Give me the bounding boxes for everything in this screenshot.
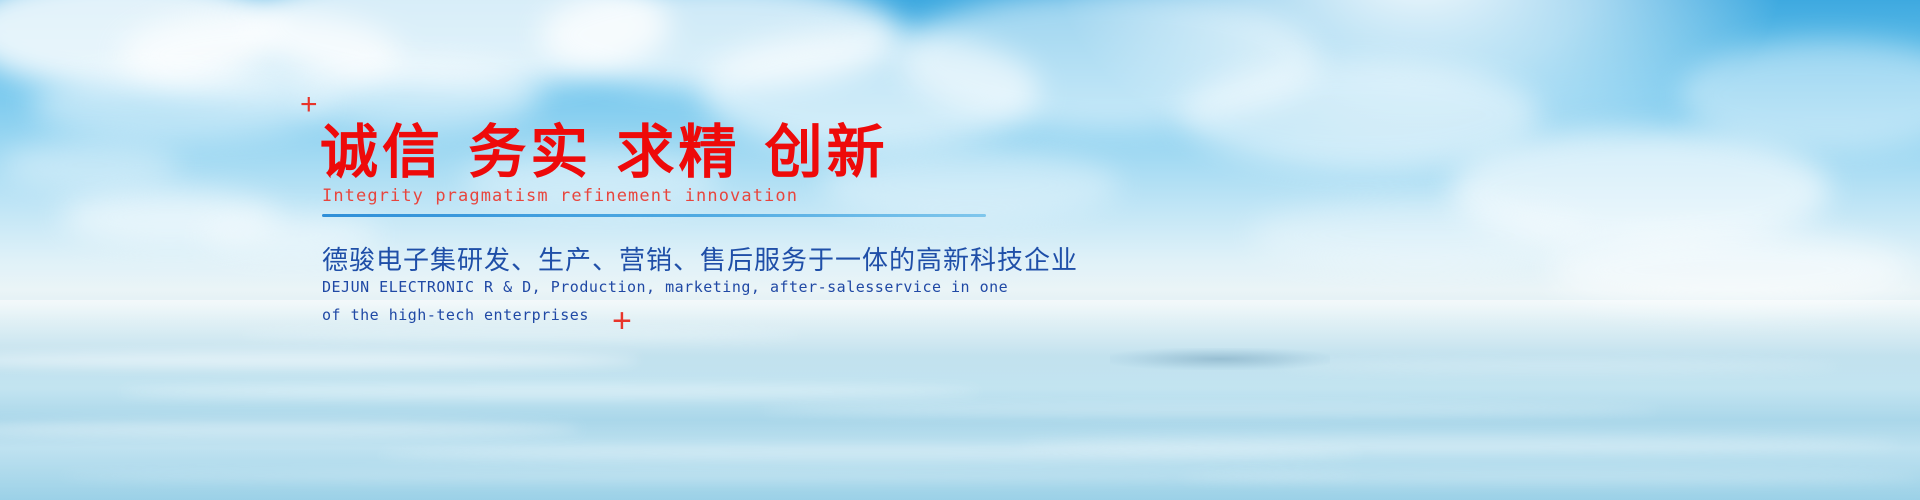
wave-streak: [1020, 436, 1900, 452]
wave-streak: [1280, 360, 1840, 372]
cloud-shape: [30, 70, 330, 140]
wave-streak: [1180, 470, 1920, 484]
cloud-shape: [1550, 230, 1910, 310]
banner-description-english: DEJUN ELECTRONIC R & D, Production, mark…: [322, 274, 1008, 330]
banner-tagline-english: Integrity pragmatism refinement innovati…: [322, 186, 798, 206]
description-english-line-1: DEJUN ELECTRONIC R & D, Production, mark…: [322, 274, 1008, 302]
cloud-shape: [0, 140, 180, 190]
divider-line: [322, 214, 986, 217]
wave-streak: [60, 470, 1360, 482]
banner-headline: 诚信 务实 求精 创新: [320, 122, 889, 183]
plus-marker-top-icon: +: [300, 90, 318, 120]
product-machine-image: 新型电磁加热设备: [1118, 62, 1318, 362]
wave-streak: [240, 330, 800, 340]
wave-streak: [760, 404, 1660, 416]
description-english-line-2: of the high-tech enterprises: [322, 302, 1008, 330]
wave-streak: [120, 386, 980, 398]
banner-description-chinese: 德骏电子集研发、生产、营销、售后服务于一体的高新科技企业: [322, 240, 1078, 277]
promo-banner: + + 诚信 务实 求精 创新 Integrity pragmatism ref…: [0, 0, 1920, 500]
